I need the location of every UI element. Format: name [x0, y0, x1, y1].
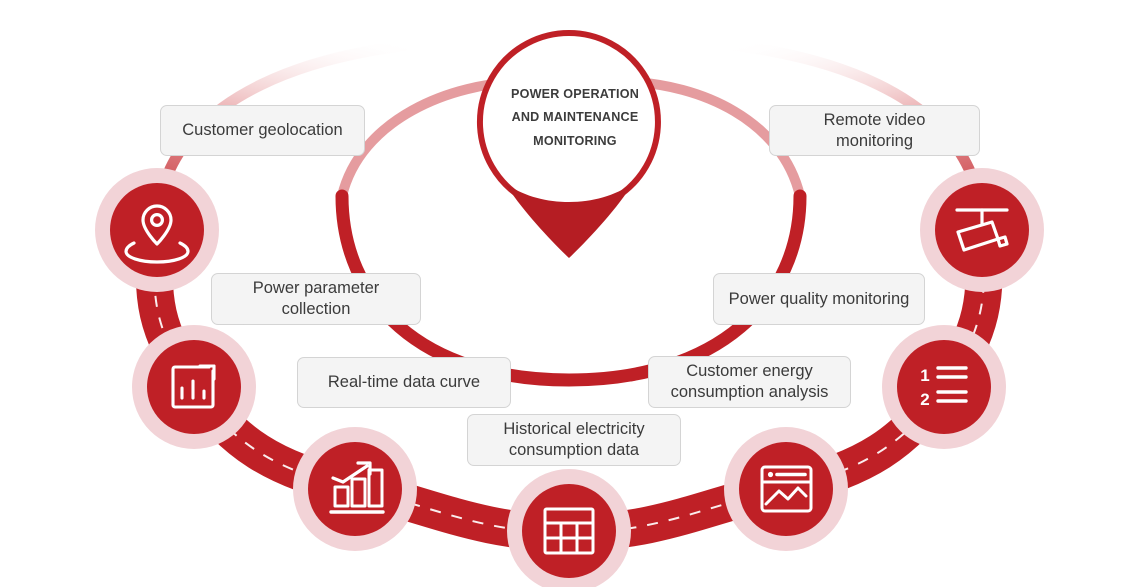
callout-tail [333, 407, 346, 423]
diagram-canvas: 1 2 POW [0, 0, 1139, 587]
label-text-line-1: Historical electricity [503, 419, 644, 440]
label-text: Power quality monitoring [729, 289, 910, 310]
label-text: Customer geolocation [182, 120, 343, 141]
label-historical-data[interactable]: Historical electricity consumption data [467, 414, 681, 466]
label-text-line-2: consumption analysis [671, 382, 829, 403]
center-pin-title: POWER OPERATION AND MAINTENANCE MONITORI… [494, 83, 656, 153]
pin-title-line-2: AND MAINTENANCE [494, 106, 656, 129]
label-power-parameter[interactable]: Power parameter collection [211, 273, 421, 325]
label-text-line-2: collection [282, 299, 351, 320]
callout-tail [243, 324, 256, 340]
label-energy-analysis[interactable]: Customer energy consumption analysis [648, 356, 851, 408]
callout-tail [187, 155, 200, 171]
label-real-time-curve[interactable]: Real-time data curve [297, 357, 511, 408]
callout-tail [881, 324, 894, 340]
callout-tail [938, 155, 951, 171]
callout-tail [500, 465, 513, 481]
label-text-line-1: Customer energy [686, 361, 813, 382]
label-customer-geolocation[interactable]: Customer geolocation [160, 105, 365, 156]
callout-tail [804, 407, 817, 423]
label-text-line-1: Power parameter [253, 278, 380, 299]
pin-title-line-1: POWER OPERATION [494, 83, 656, 106]
label-text: Remote video monitoring [784, 110, 965, 152]
label-text-line-2: consumption data [509, 440, 639, 461]
label-power-quality[interactable]: Power quality monitoring [713, 273, 925, 325]
label-text: Real-time data curve [328, 372, 480, 393]
label-remote-video[interactable]: Remote video monitoring [769, 105, 980, 156]
pin-title-line-3: MONITORING [494, 130, 656, 153]
